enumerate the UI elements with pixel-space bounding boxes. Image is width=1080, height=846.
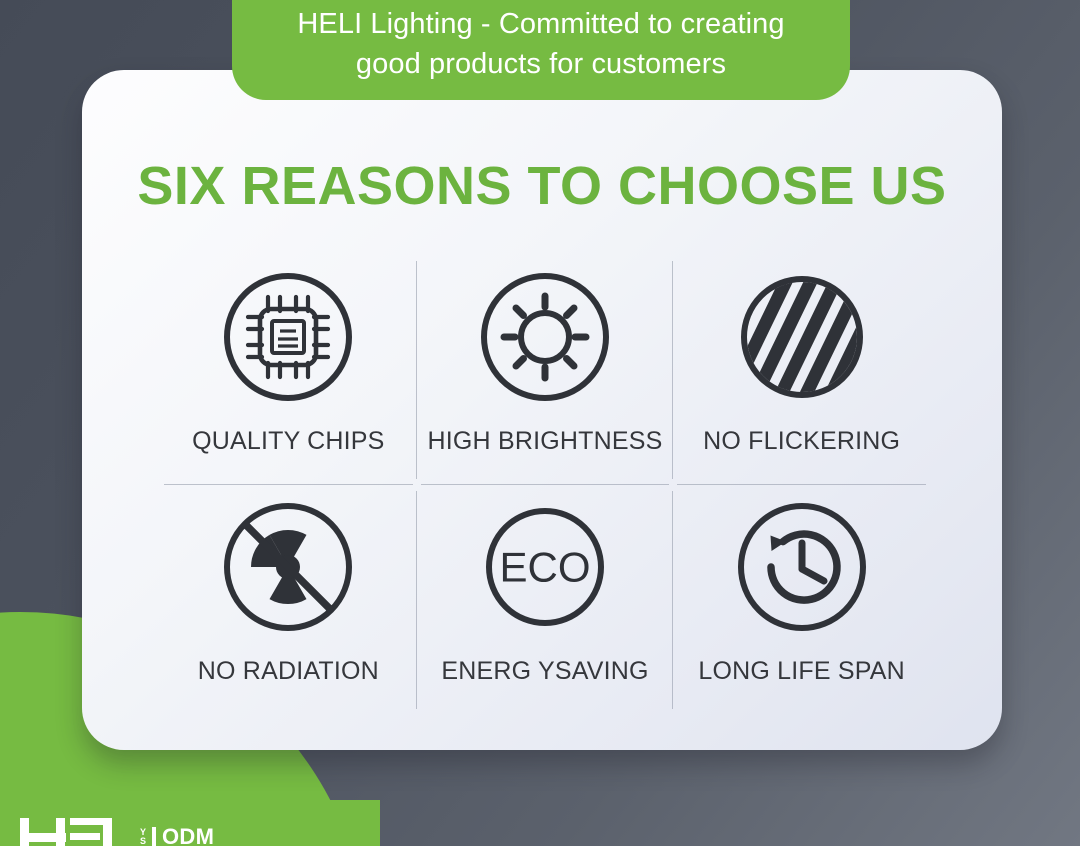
feature-label: LONG LIFE SPAN [698, 657, 905, 686]
odm-divider-bar [152, 827, 156, 846]
feature-label: NO RADIATION [198, 657, 379, 686]
feature-card: SIX REASONS TO CHOOSE US [82, 70, 1002, 750]
feature-label: NO FLICKERING [703, 427, 900, 456]
brand-lockup: Y S ODM [20, 812, 214, 846]
eco-icon-text: ECO [499, 544, 590, 591]
odm-ys-stack: Y S [140, 828, 146, 846]
no-radiation-icon [220, 499, 356, 635]
page-title: SIX REASONS TO CHOOSE US [82, 156, 1002, 216]
feature-item-no-flickering[interactable]: NO FLICKERING [673, 255, 930, 485]
feature-label: ENERG YSAVING [441, 657, 648, 686]
poster-canvas: HELI Lighting - Committed to creating go… [0, 0, 1080, 846]
feature-label: QUALITY CHIPS [192, 427, 384, 456]
feature-item-high-brightness[interactable]: HIGH BRIGHTNESS [417, 255, 674, 485]
odm-badge: Y S ODM [140, 824, 214, 846]
sun-icon [477, 269, 613, 405]
feature-label: HIGH BRIGHTNESS [428, 427, 663, 456]
feature-item-quality-chips[interactable]: QUALITY CHIPS [160, 255, 417, 485]
odm-label: ODM [162, 824, 214, 846]
top-banner: HELI Lighting - Committed to creating go… [232, 0, 850, 100]
chip-icon [220, 269, 356, 405]
heli-logo [20, 812, 112, 846]
feature-item-no-radiation[interactable]: NO RADIATION [160, 485, 417, 715]
odm-s-letter: S [140, 837, 146, 846]
feature-grid: QUALITY CHIPS [160, 255, 930, 715]
banner-text: HELI Lighting - Committed to creating go… [258, 4, 824, 84]
stripes-icon [734, 269, 870, 405]
clock-history-icon [734, 499, 870, 635]
feature-item-energy-saving[interactable]: ECO ENERG YSAVING [417, 485, 674, 715]
eco-icon: ECO [477, 499, 613, 635]
feature-item-long-life-span[interactable]: LONG LIFE SPAN [673, 485, 930, 715]
